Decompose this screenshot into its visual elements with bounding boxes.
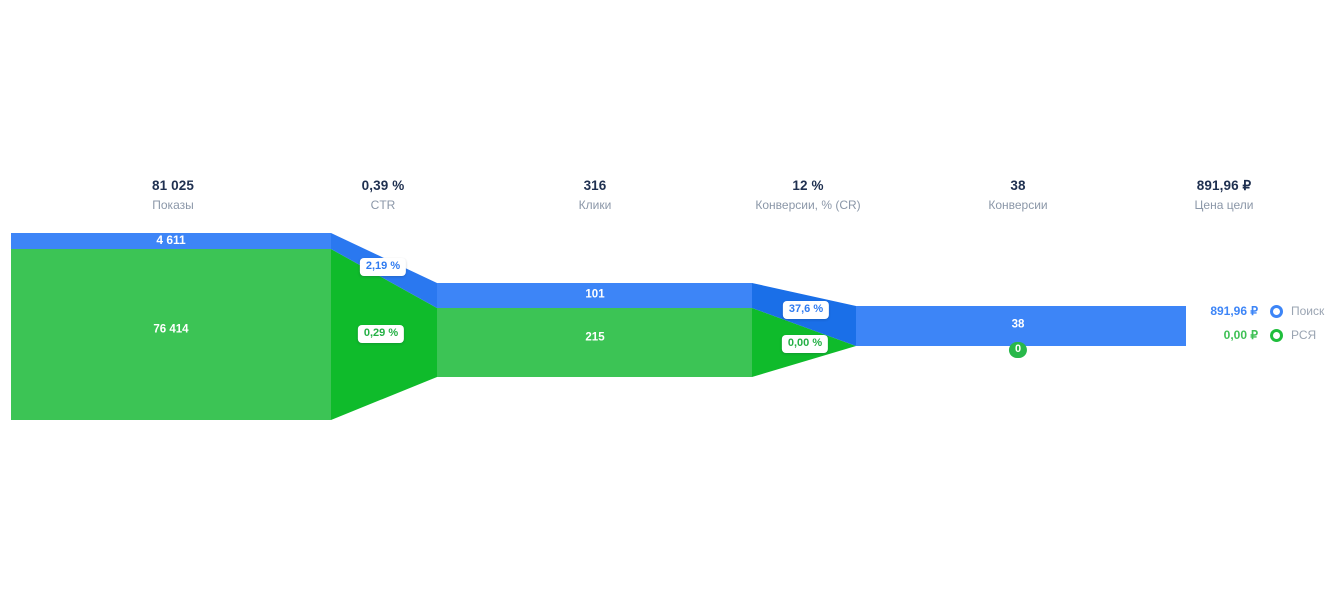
legend-rsa-value: 0,00 ₽ [1196,328,1258,342]
label-search-clicks: 101 [585,289,604,302]
donut-ring-icon [1270,329,1283,342]
label-search-ctr: 2,19 % [360,258,406,276]
funnel-ribbons [0,0,1340,600]
label-rsa-cr: 0,00 % [782,335,828,353]
legend-item-search[interactable]: 891,96 ₽ Поиск [1196,299,1340,323]
legend-search-label: Поиск [1291,304,1324,318]
legend-search-value: 891,96 ₽ [1196,304,1258,318]
legend-rsa-label: РСЯ [1291,328,1316,342]
label-rsa-conversions: 0 [1009,342,1027,358]
label-rsa-ctr: 0,29 % [358,325,404,343]
label-rsa-impressions: 76 414 [153,324,188,337]
donut-ring-icon [1270,305,1283,318]
label-search-cr: 37,6 % [783,301,829,319]
label-search-conversions: 38 [1012,319,1025,332]
label-rsa-clicks: 215 [585,332,604,345]
funnel-chart: 81 025 Показы 0,39 % CTR 316 Клики 12 % … [0,0,1340,600]
label-search-impressions: 4 611 [149,233,192,249]
legend-item-rsa[interactable]: 0,00 ₽ РСЯ [1196,323,1340,347]
legend: 891,96 ₽ Поиск 0,00 ₽ РСЯ [1196,299,1340,347]
